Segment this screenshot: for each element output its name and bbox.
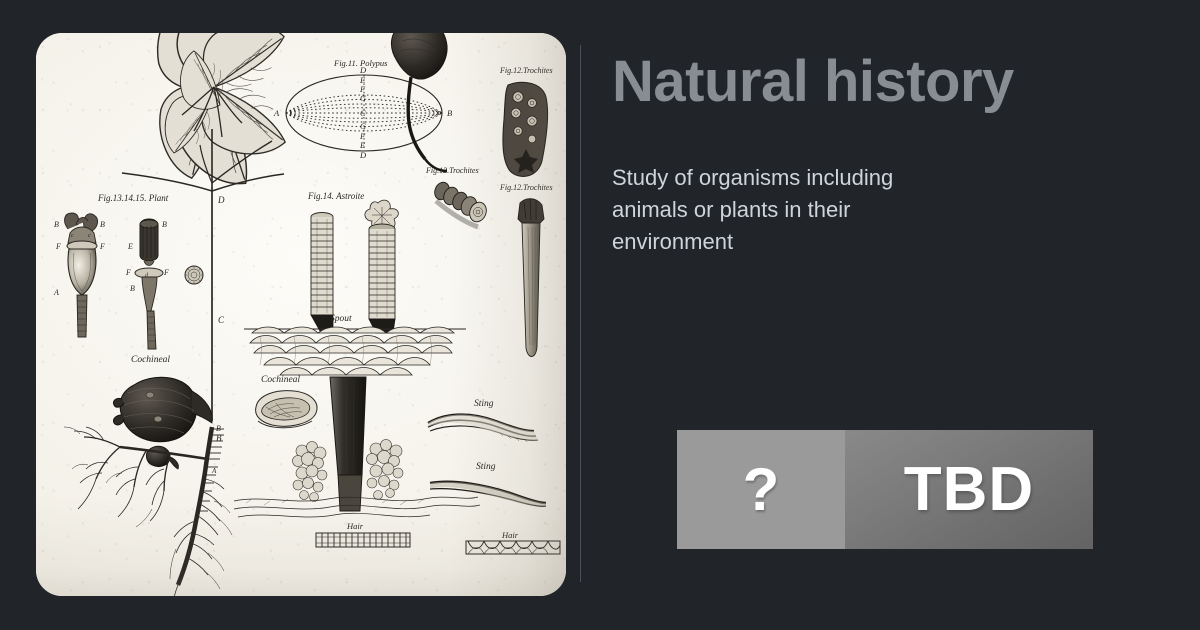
svg-text:Sting: Sting: [476, 462, 496, 472]
svg-text:B: B: [130, 284, 135, 293]
svg-text:B: B: [216, 433, 222, 443]
tbd-label: TBD: [904, 459, 1034, 521]
tbd-placeholder-badge[interactable]: ? TBD: [677, 430, 1093, 549]
page-description: Study of organisms including animals or …: [612, 162, 942, 258]
svg-text:A: A: [273, 108, 280, 118]
svg-text:F: F: [99, 242, 105, 251]
question-mark-panel: ?: [677, 430, 845, 549]
svg-text:B: B: [54, 220, 59, 229]
svg-text:c: c: [71, 233, 74, 239]
svg-text:Fig.14. Astroite: Fig.14. Astroite: [307, 191, 364, 201]
question-mark-icon: ?: [743, 460, 780, 520]
svg-text:F: F: [163, 268, 169, 277]
svg-text:Fig.12.Trochites: Fig.12.Trochites: [499, 66, 553, 75]
svg-text:E: E: [359, 140, 366, 150]
svg-text:Fig.11. Polypus: Fig.11. Polypus: [333, 58, 388, 68]
svg-text:Fig.13.14.15. Plant: Fig.13.14.15. Plant: [97, 193, 169, 203]
svg-text:A: A: [53, 288, 59, 297]
og-preview-card: D C B: [0, 0, 1200, 630]
svg-text:Hair: Hair: [346, 521, 364, 531]
svg-text:Cochineal: Cochineal: [131, 355, 170, 365]
svg-text:Fig.12.Trochites: Fig.12.Trochites: [425, 166, 479, 175]
svg-text:E: E: [127, 242, 133, 251]
svg-text:A: A: [211, 467, 217, 475]
svg-text:D: D: [217, 195, 225, 205]
page-title: Natural history: [612, 49, 1152, 115]
svg-text:F: F: [125, 268, 131, 277]
svg-text:Sting: Sting: [474, 399, 494, 409]
svg-text:D: D: [359, 150, 367, 160]
svg-text:G: G: [360, 93, 366, 103]
svg-text:G: G: [360, 121, 366, 131]
svg-text:C: C: [360, 108, 366, 118]
svg-text:F: F: [55, 242, 61, 251]
svg-text:B: B: [447, 108, 452, 118]
svg-text:Spout: Spout: [330, 314, 352, 324]
svg-text:Fig.12.Trochites: Fig.12.Trochites: [499, 183, 553, 192]
svg-text:Hair: Hair: [501, 530, 519, 540]
svg-text:B: B: [162, 220, 167, 229]
svg-text:Cochineal: Cochineal: [261, 375, 300, 385]
svg-text:C: C: [218, 315, 225, 325]
svg-text:B: B: [216, 424, 221, 433]
natural-history-engraving: D C B: [36, 33, 566, 596]
text-panel: Natural history Study of organisms inclu…: [580, 0, 1200, 630]
media-panel: D C B: [0, 0, 580, 630]
svg-text:c: c: [88, 233, 91, 239]
engraving-card[interactable]: D C B: [36, 33, 566, 596]
tbd-label-panel: TBD: [845, 430, 1093, 549]
svg-text:B: B: [100, 220, 105, 229]
